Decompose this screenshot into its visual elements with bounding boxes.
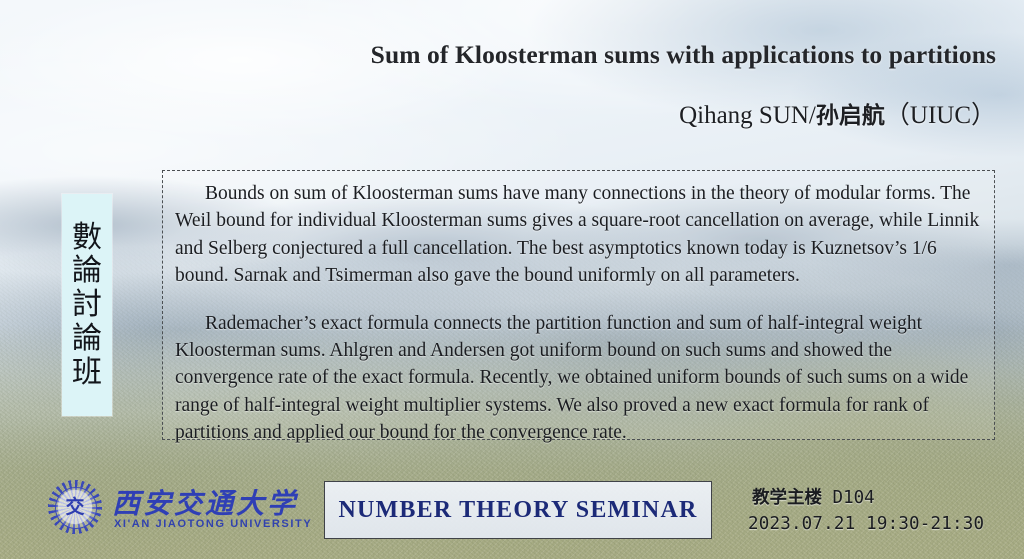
seminar-poster: Sum of Kloosterman sums with application… [0,0,1024,559]
event-date: 2023.07.21 [748,514,855,534]
datetime-line: 2023.07.21 19:30-21:30 [748,514,984,534]
university-logo: 交 西安交通大学 XI'AN JIAOTONG UNIVERSITY [48,478,268,536]
vertical-char-2: 論 [72,255,102,287]
seal-glyph: 交 [61,492,89,522]
venue-room: D104 [833,488,875,508]
seminar-banner-label: NUMBER THEORY SEMINAR [338,497,697,524]
university-seal-icon: 交 [48,480,102,534]
speaker-name-cjk: 孙启航 [816,103,885,129]
abstract-paragraph-1: Bounds on sum of Kloosterman sums have m… [175,180,982,290]
seminar-banner: NUMBER THEORY SEMINAR [324,481,712,539]
vertical-char-5: 班 [72,357,102,389]
vertical-char-1: 數 [72,222,102,254]
speaker-affiliation: （UIUC） [885,102,996,129]
venue-building: 教学主楼 [752,488,822,508]
event-time: 19:30-21:30 [866,514,984,534]
speaker-line: Qihang SUN/孙启航（UIUC） [679,95,996,131]
university-name-cn: 西安交通大学 [112,482,298,522]
speaker-name-latin: Qihang SUN/ [679,102,816,129]
page-title: Sum of Kloosterman sums with application… [371,40,996,70]
vertical-char-3: 討 [72,289,102,321]
venue-line: 教学主楼 D104 [752,484,875,509]
vertical-seminar-strip: 數 論 討 論 班 [62,194,112,416]
abstract-box: Bounds on sum of Kloosterman sums have m… [162,170,995,440]
abstract-paragraph-2: Rademacher’s exact formula connects the … [175,310,982,447]
university-name-en: XI'AN JIAOTONG UNIVERSITY [114,518,312,530]
vertical-char-4: 論 [72,323,102,355]
